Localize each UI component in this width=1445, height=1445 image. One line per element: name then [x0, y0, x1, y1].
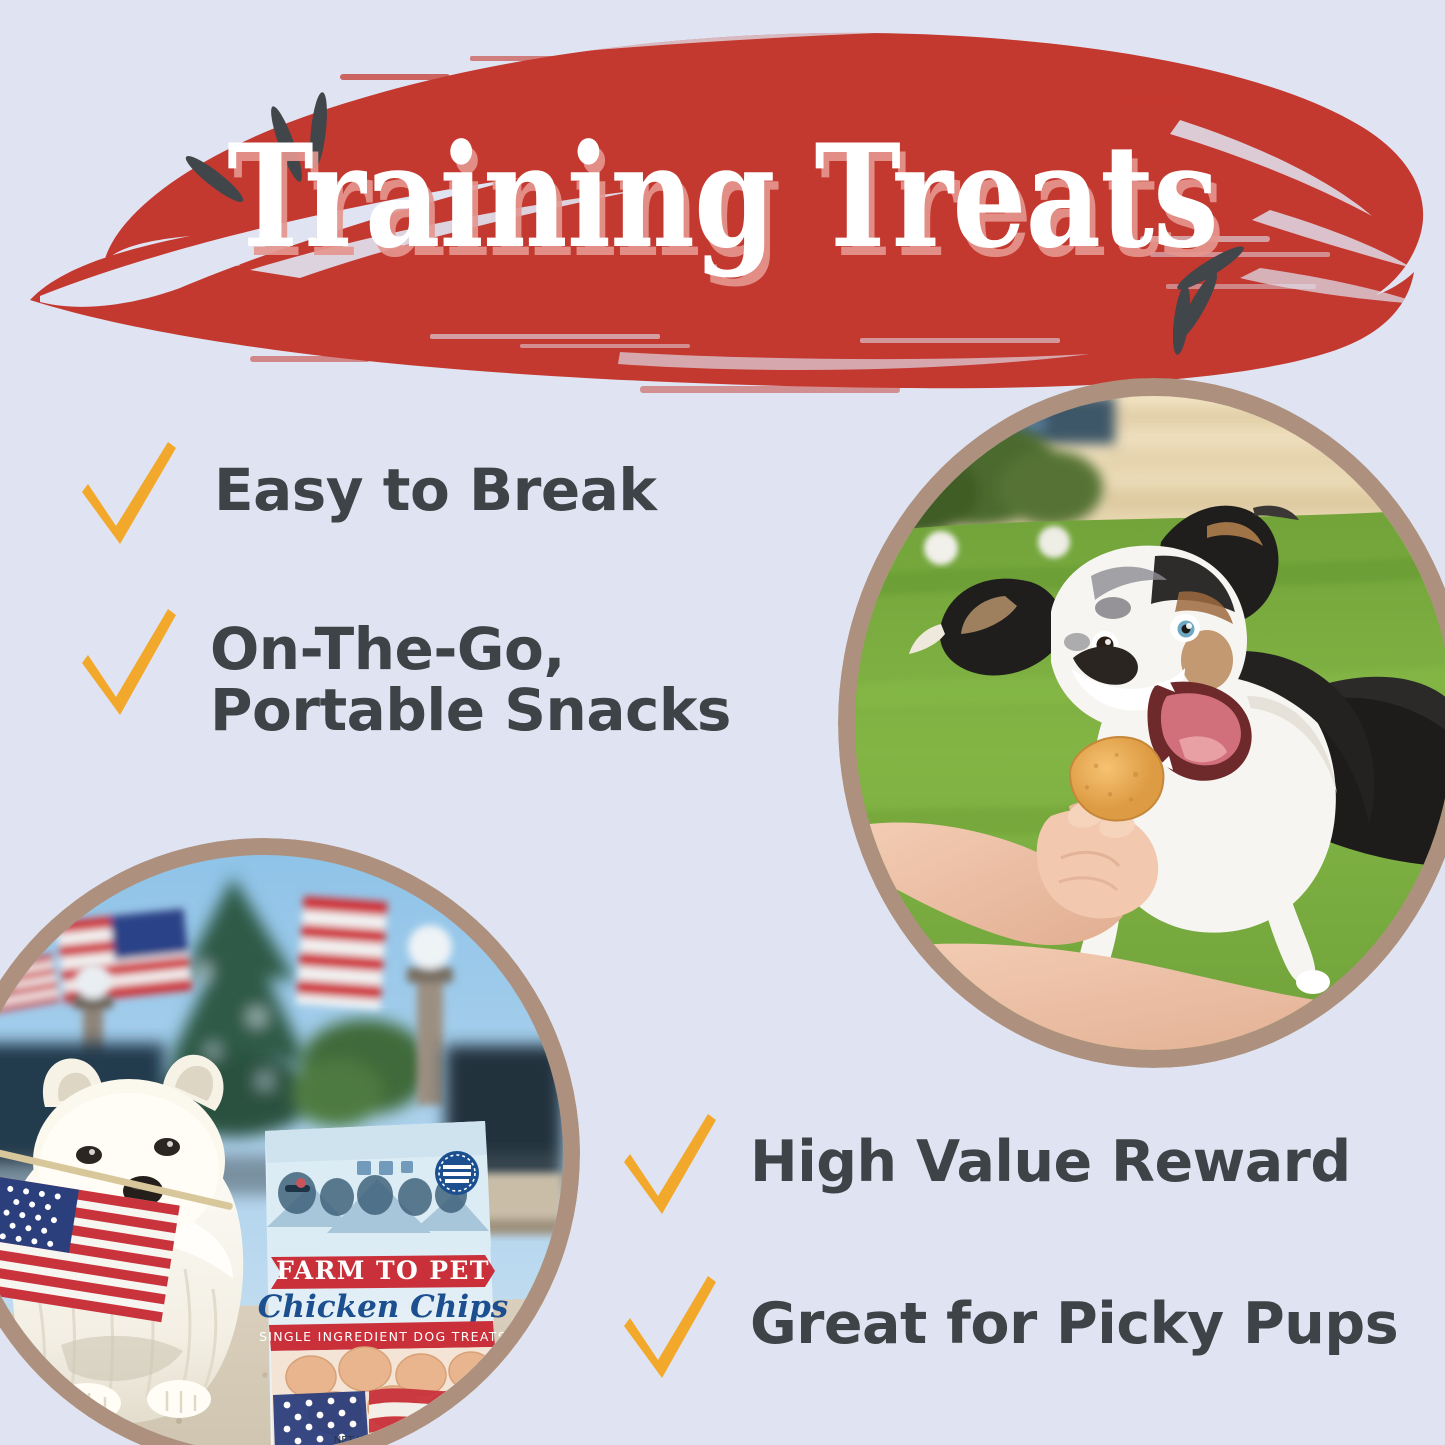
- feature-easy-to-break: Easy to Break: [72, 440, 656, 550]
- orange-checkmark-icon: [614, 1272, 724, 1384]
- feature-label: On-The-Go, Portable Snacks: [210, 619, 731, 742]
- page-title: Training Treats: [130, 126, 1315, 268]
- feature-great-for-picky-pups: Great for Picky Pups: [614, 1272, 1398, 1384]
- bag-product-name-text: Chicken Chips: [258, 1289, 509, 1325]
- feature-label: Great for Picky Pups: [750, 1294, 1398, 1354]
- photo-pomeranian-with-flag: FARM TO PET Chicken Chips SINGLE INGREDI…: [0, 838, 580, 1445]
- feature-label: High Value Reward: [750, 1132, 1351, 1192]
- bag-brand-text: FARM TO PET: [276, 1256, 490, 1285]
- photo-dog-taking-treat: [838, 378, 1445, 1068]
- feature-high-value-reward: High Value Reward: [614, 1112, 1351, 1220]
- photo-image-dog-taking-treat: [855, 396, 1445, 1050]
- orange-checkmark-icon: [614, 1112, 724, 1220]
- orange-checkmark-icon: [72, 605, 184, 723]
- made-in-usa-badge-icon: [435, 1151, 479, 1195]
- photo-image-pomeranian-with-flag: FARM TO PET Chicken Chips SINGLE INGREDI…: [0, 855, 563, 1445]
- bag-tagline-text: SINGLE INGREDIENT DOG TREATS: [259, 1329, 507, 1344]
- feature-label: Easy to Break: [214, 460, 656, 521]
- orange-checkmark-icon: [72, 440, 184, 550]
- bag-net-weight-text: NET WT. 4oz (113g): [334, 1435, 432, 1445]
- training-treats-infographic: Training Treats: [0, 0, 1445, 1445]
- product-bag: FARM TO PET Chicken Chips SINGLE INGREDI…: [258, 1121, 509, 1445]
- feature-on-the-go: On-The-Go, Portable Snacks: [72, 605, 731, 742]
- header-banner: Training Treats: [0, 0, 1445, 400]
